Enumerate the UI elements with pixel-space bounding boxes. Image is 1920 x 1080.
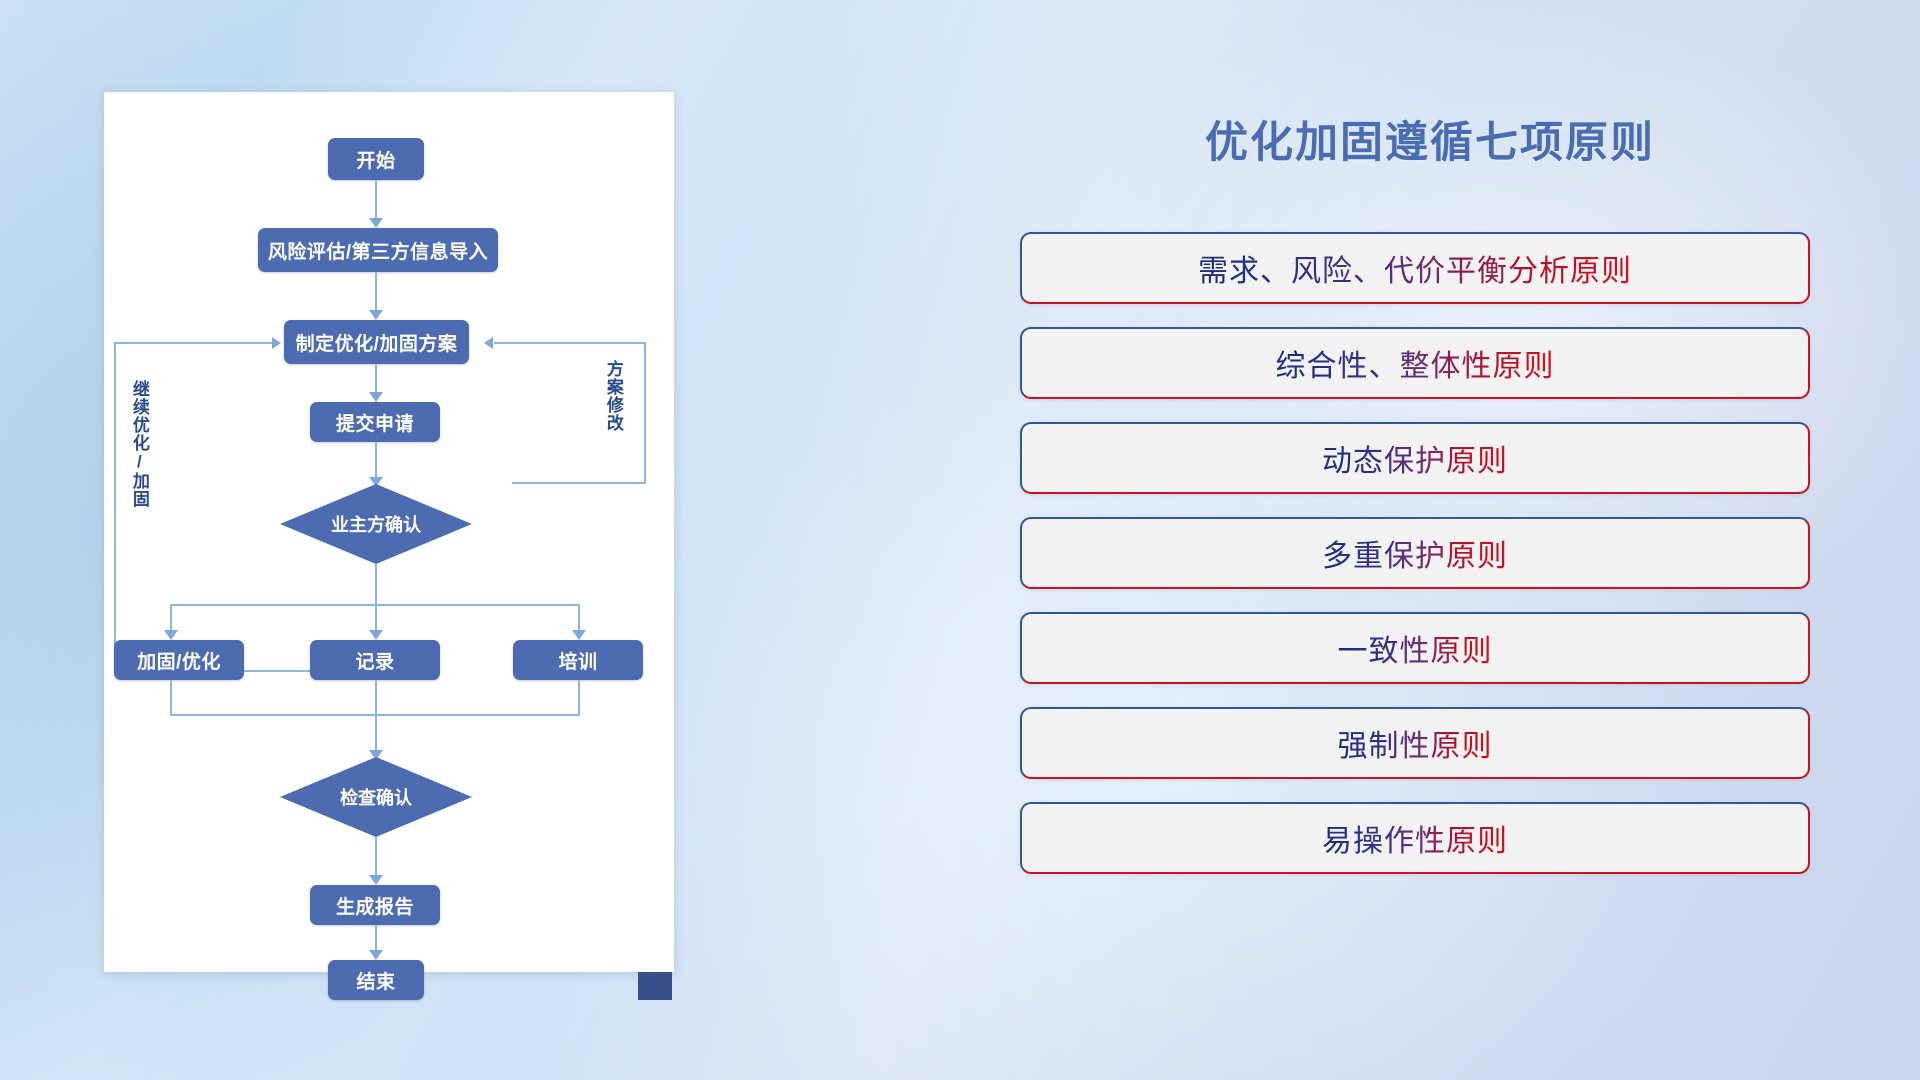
flow-node-check-confirm[interactable]: 检查确认: [280, 757, 472, 837]
principle-label: 一致性原则: [1338, 626, 1493, 670]
connector-submit-owner: [375, 442, 377, 482]
flow-node-label: 制定优化/加固方案: [296, 329, 458, 356]
left-loop-label: 继续优化/加固: [130, 380, 148, 530]
right-loop-hline-top: [494, 342, 646, 344]
flow-node-label: 结束: [356, 967, 395, 994]
arrow-down-fan-left: [164, 630, 178, 640]
principle-label: 动态保护原则: [1322, 436, 1508, 480]
flow-node-reinforce[interactable]: 加固/优化: [114, 640, 244, 680]
connector-owner-fanout: [375, 564, 377, 604]
flow-node-submit[interactable]: 提交申请: [310, 402, 440, 442]
flow-node-record[interactable]: 记录: [310, 640, 440, 680]
flow-node-label: 记录: [355, 647, 394, 674]
arrow-right-left-loop: [272, 337, 281, 349]
principle-card-1[interactable]: 需求、风险、代价平衡分析原则: [1020, 232, 1810, 304]
arrow-down-plan-submit: [369, 392, 383, 402]
principle-label: 多重保护原则: [1322, 531, 1508, 575]
fanin-right-rise: [578, 680, 580, 716]
principle-label: 强制性原则: [1338, 721, 1493, 765]
right-loop-label: 方案修改: [604, 360, 622, 470]
flow-node-start[interactable]: 开始: [328, 138, 424, 180]
flow-node-label: 风险评估/第三方信息导入: [268, 237, 488, 264]
arrow-down-fan-right: [572, 630, 586, 640]
page-title: 优化加固遵循七项原则: [1020, 108, 1840, 170]
flow-node-label: 生成报告: [336, 892, 414, 919]
principle-card-3[interactable]: 动态保护原则: [1020, 422, 1810, 494]
flow-node-end[interactable]: 结束: [328, 960, 424, 1000]
right-loop-hline-bottom: [512, 482, 646, 484]
flowchart-card: 开始 风险评估/第三方信息导入 制定优化/加固方案 继续优化/加固 方案修改: [104, 92, 674, 972]
arrow-down-report-end: [369, 950, 383, 960]
principle-card-5[interactable]: 一致性原则: [1020, 612, 1810, 684]
arrow-down-risk-plan: [369, 310, 383, 320]
left-loop-hline-top: [114, 342, 274, 344]
principle-card-6[interactable]: 强制性原则: [1020, 707, 1810, 779]
right-loop-vline: [644, 342, 646, 484]
flow-node-label: 业主方确认: [331, 511, 421, 537]
connector-start-risk: [375, 180, 377, 220]
arrow-down-check-report: [369, 875, 383, 885]
flow-node-label: 加固/优化: [137, 647, 221, 674]
flow-node-label: 培训: [558, 647, 597, 674]
flow-node-owner-confirm[interactable]: 业主方确认: [280, 484, 472, 564]
flow-node-make-plan[interactable]: 制定优化/加固方案: [284, 320, 469, 364]
connector-risk-plan: [375, 272, 377, 312]
principles-panel: 优化加固遵循七项原则 需求、风险、代价平衡分析原则 综合性、整体性原则 动态保护…: [1020, 0, 1920, 1080]
principle-label: 需求、风险、代价平衡分析原则: [1198, 246, 1632, 290]
arrow-left-right-loop: [484, 337, 493, 349]
flow-node-report[interactable]: 生成报告: [310, 885, 440, 925]
principle-label: 综合性、整体性原则: [1276, 341, 1555, 385]
flow-node-label: 提交申请: [336, 409, 414, 436]
arrow-down-fan-mid: [369, 630, 383, 640]
principle-card-4[interactable]: 多重保护原则: [1020, 517, 1810, 589]
fanin-mid-drop: [375, 680, 377, 755]
flow-node-training[interactable]: 培训: [513, 640, 643, 680]
principle-label: 易操作性原则: [1322, 816, 1508, 860]
fanin-left-rise: [170, 680, 172, 716]
principle-card-7[interactable]: 易操作性原则: [1020, 802, 1810, 874]
left-loop-vline: [114, 342, 116, 672]
flow-node-risk-assessment[interactable]: 风险评估/第三方信息导入: [258, 228, 498, 272]
principle-card-2[interactable]: 综合性、整体性原则: [1020, 327, 1810, 399]
flow-node-label: 检查确认: [340, 784, 412, 810]
flow-node-label: 开始: [356, 146, 395, 173]
principles-list: 需求、风险、代价平衡分析原则 综合性、整体性原则 动态保护原则 多重保护原则 一…: [1020, 232, 1810, 897]
arrow-down-start-risk: [369, 218, 383, 228]
slide-canvas: 开始 风险评估/第三方信息导入 制定优化/加固方案 继续优化/加固 方案修改: [0, 0, 1920, 1080]
